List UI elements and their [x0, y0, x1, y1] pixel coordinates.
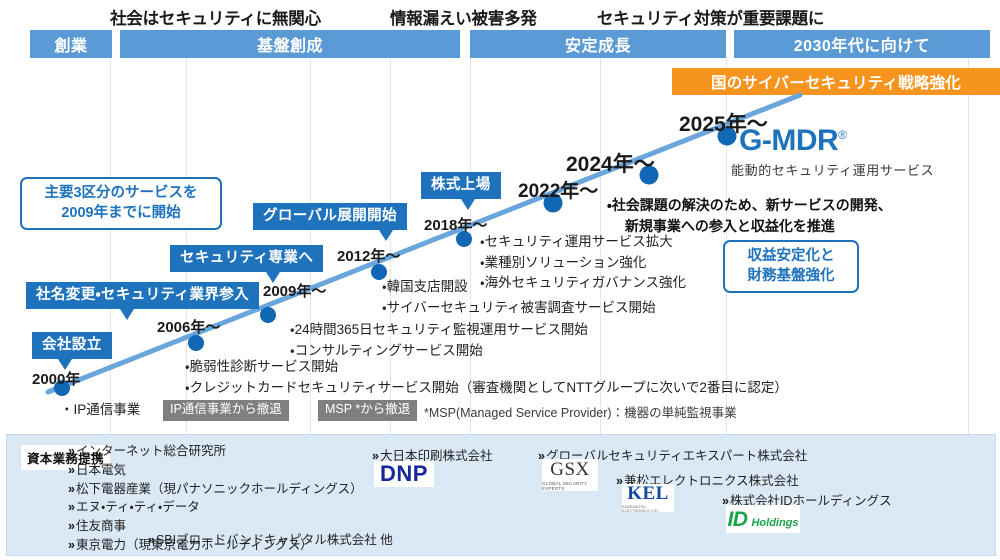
registered-trademark-icon: ® — [838, 128, 846, 142]
double-chevron-icon: » — [148, 533, 155, 547]
logo-id-row: IDHoldings — [727, 509, 798, 530]
outline-box-line-0: 主要3区分のサービスを — [32, 184, 210, 204]
bullet-group-bullets-2000: ・IP通信事業 — [60, 400, 140, 421]
year-label-m2018: 2018年〜 — [424, 214, 487, 235]
bullet-line-0: ・韓国支店開設 — [382, 277, 656, 298]
bullet-line-1: ・業種別ソリューション強化 — [480, 253, 686, 274]
callout-kabushiki-joujou: 株式上場 — [421, 172, 501, 199]
gmdr-product-name: G-MDR® — [739, 124, 847, 158]
bullet-group-bullets-2012: ・韓国支店開設・サイバーセキュリティ被害調査サービス開始 — [382, 277, 656, 318]
timeline-marker-m2009[interactable] — [260, 307, 276, 323]
logo-id-wordmark: Holdings — [751, 517, 798, 529]
year-label-m2022: 2022年〜 — [518, 176, 598, 203]
alliance-item-3: »エヌ・ティ・ティ・データ — [68, 498, 363, 517]
logo-gsx-wordmark: GSX — [550, 460, 590, 479]
outline-box-line-1: 財務基盤強化 — [735, 267, 847, 287]
callout-global-tenkai: グローバル展開開始 — [253, 203, 407, 230]
partner-logo-dnp: DNP — [374, 461, 434, 487]
infographic-root: 社会はセキュリティに無関心情報漏えい被害多発セキュリティ対策が重要課題に 創業基… — [0, 0, 1000, 560]
bullet-line-0: ・24時間365日セキュリティ監視運用サービス開始 — [290, 320, 588, 341]
alliance-partner-list-sbi: »SBIブロードバンドキャピタル株式会社 他 — [148, 531, 393, 550]
outline-box-shuyou-3kubun: 主要3区分のサービスを2009年までに開始 — [20, 177, 222, 230]
callout-shamei-henkou: 社名変更・セキュリティ業界参入 — [26, 282, 259, 309]
double-chevron-icon: » — [68, 463, 75, 477]
logo-id-mark: ID — [727, 509, 747, 530]
year-label-m2012: 2012年〜 — [337, 245, 400, 266]
bullet-line-0: ・セキュリティ運用サービス拡大 — [480, 232, 686, 253]
gmdr-product-subtitle: 能動的セキュリティ運用サービス — [731, 160, 934, 179]
double-chevron-icon: » — [68, 444, 75, 458]
bullet-line-0: ・社会課題の解決のため、新サービスの開発、 — [607, 195, 892, 216]
double-chevron-icon: » — [68, 500, 75, 514]
logo-gsx-tagline: GLOBAL SECURITY EXPERTS — [542, 481, 598, 491]
logo-kel-tagline: KANEMATSU ELECTRONICS LTD. — [622, 505, 674, 513]
outline-box-line-0: 収益安定化と — [735, 247, 847, 267]
year-label-m2009: 2009年〜 — [263, 280, 326, 301]
partner-logo-gsx: GSXGLOBAL SECURITY EXPERTS — [542, 459, 598, 491]
alliance-item-2: »松下電器産業（現パナソニックホールディングス） — [68, 480, 363, 499]
double-chevron-icon: » — [68, 538, 75, 552]
exit-badge-exit-msp: MSP *から撤退 — [318, 400, 417, 421]
outline-box-shueki-antei: 収益安定化と財務基盤強化 — [723, 240, 859, 293]
bullet-group-bullets-2006: ・脆弱性診断サービス開始・クレジットカードセキュリティサービス開始（審査機関とし… — [185, 357, 788, 398]
double-chevron-icon: » — [68, 519, 75, 533]
partner-logo-idholdings: IDHoldings — [726, 505, 800, 533]
bullet-group-bullets-2009: ・24時間365日セキュリティ監視運用サービス開始・コンサルティングサービス開始 — [290, 320, 588, 361]
timeline-marker-m2006[interactable] — [188, 335, 204, 351]
callout-kaisha-setsuritsu: 会社設立 — [32, 332, 112, 359]
bullet-line-1: ・サイバーセキュリティ被害調査サービス開始 — [382, 298, 656, 319]
bullet-line-1: ・クレジットカードセキュリティサービス開始（審査機関としてNTTグループに次いで… — [185, 378, 788, 399]
year-label-m2000: 2000年 — [32, 368, 80, 389]
bullet-line-0: ・脆弱性診断サービス開始 — [185, 357, 788, 378]
msp-footnote: *MSP(Managed Service Provider)：機器の単純監視事業 — [424, 402, 737, 421]
exit-badge-exit-ip: IP通信事業から撤退 — [163, 400, 289, 421]
partner-logo-kel: KELKANEMATSU ELECTRONICS LTD. — [622, 484, 674, 512]
double-chevron-icon: » — [68, 482, 75, 496]
callout-security-sengyo: セキュリティ専業へ — [170, 245, 323, 272]
logo-dnp-wordmark: DNP — [380, 461, 428, 487]
year-label-m2006: 2006年〜 — [157, 316, 220, 337]
alliance-item-1: »日本電気 — [68, 461, 363, 480]
year-label-m2024: 2024年〜 — [566, 148, 655, 178]
logo-kel-wordmark: KEL — [627, 484, 669, 503]
outline-box-line-1: 2009年までに開始 — [32, 204, 210, 224]
alliance-item-0: »インターネット総合研究所 — [68, 442, 363, 461]
bullet-line-0: ・IP通信事業 — [60, 400, 140, 421]
